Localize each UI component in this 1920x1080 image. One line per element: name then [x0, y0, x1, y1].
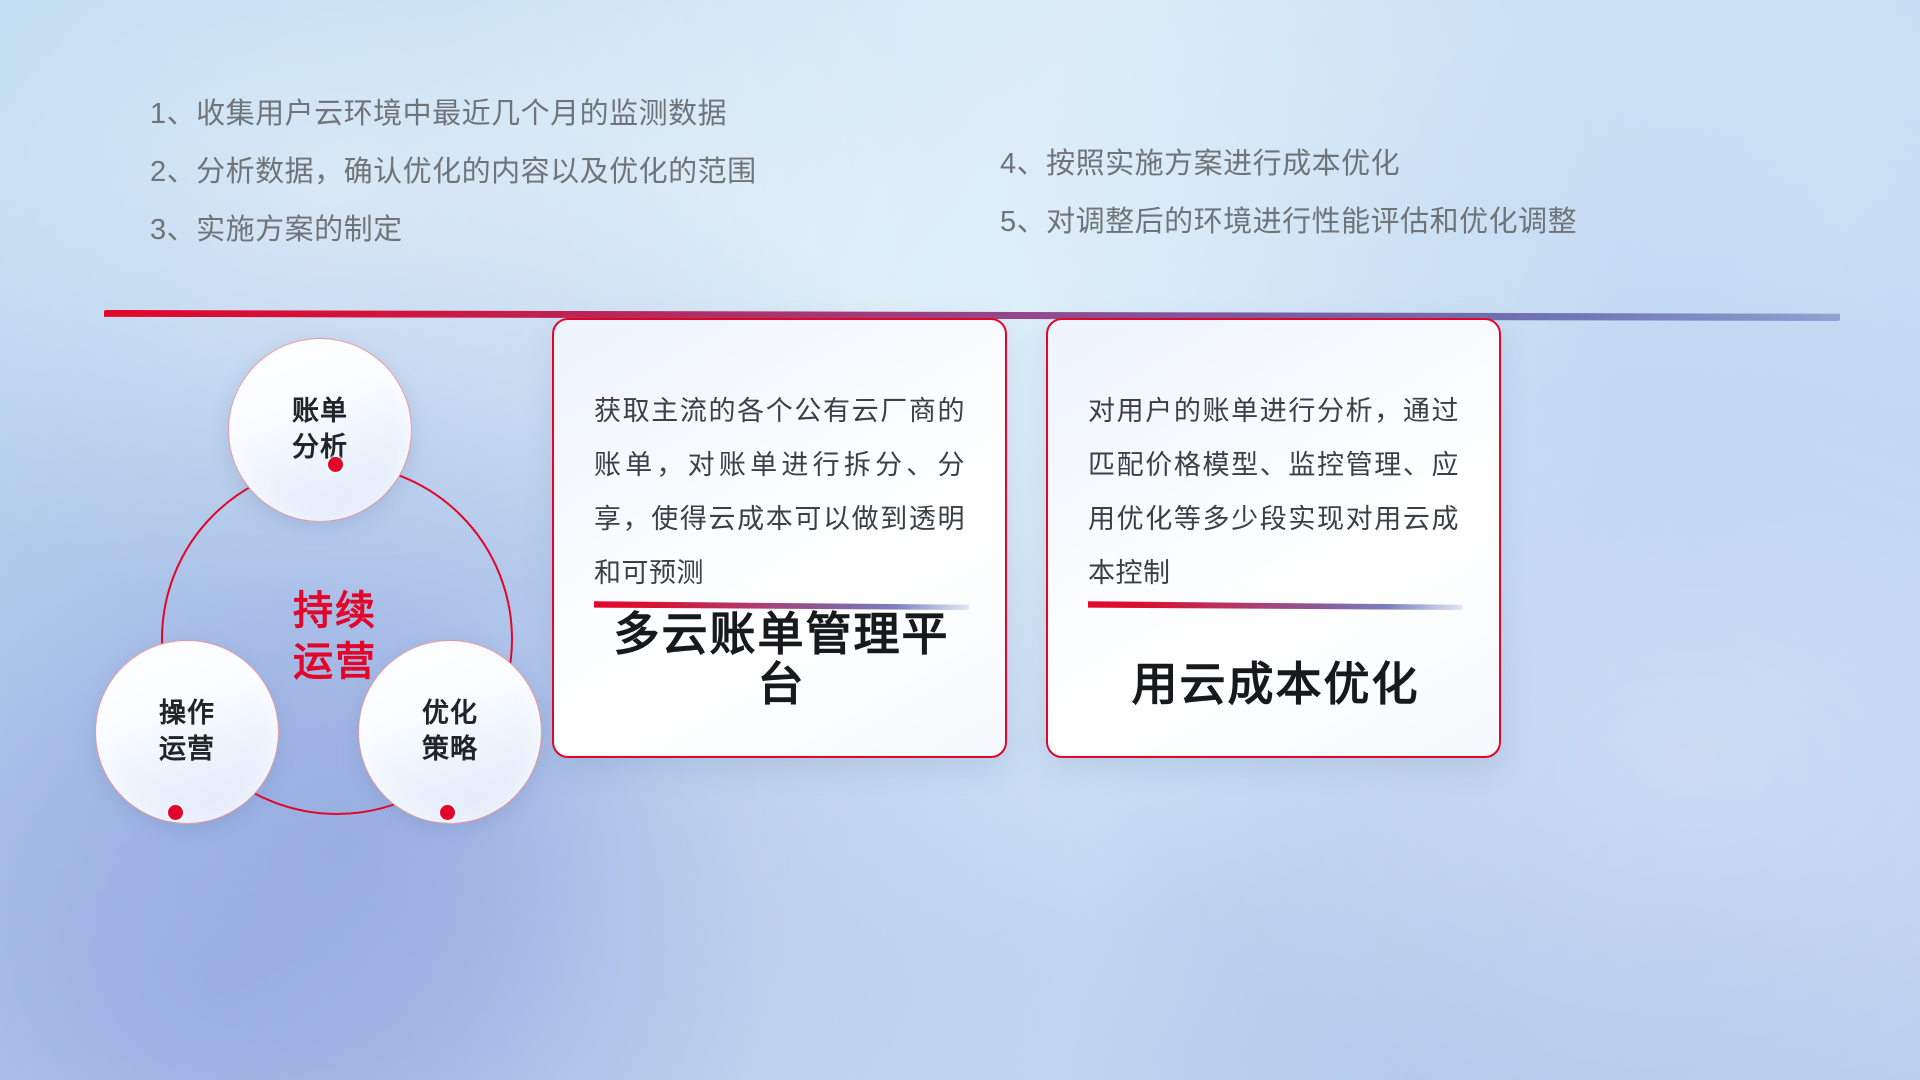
diagram-node-optimization-strategy-line1: 优化 [422, 698, 478, 728]
diagram-node-operations-line2: 运营 [159, 734, 215, 764]
steps-right-column: 4、按照实施方案进行成本优化 5、对调整后的环境进行性能评估和优化调整 [1000, 150, 1577, 237]
diagram-node-operations[interactable]: 操作 运营 [95, 640, 279, 824]
feature-card-multicloud-billing[interactable]: 获取主流的各个公有云厂商的账单，对账单进行拆分、分享，使得云成本可以做到透明和可… [552, 318, 1007, 758]
feature-card-cost-optimization[interactable]: 对用户的账单进行分析，通过匹配价格模型、监控管理、应用优化等多少段实现对用云成本… [1046, 318, 1501, 758]
steps-left-column: 1、收集用户云环境中最近几个月的监测数据 2、分析数据，确认优化的内容以及优化的… [150, 100, 757, 245]
step-item-1: 1、收集用户云环境中最近几个月的监测数据 [150, 100, 757, 129]
diagram-node-operations-line1: 操作 [159, 698, 215, 728]
feature-cards: 获取主流的各个公有云厂商的账单，对账单进行拆分、分享，使得云成本可以做到透明和可… [552, 318, 1862, 758]
feature-card-multicloud-billing-title: 多云账单管理平台 [594, 609, 969, 710]
step-item-4: 4、按照实施方案进行成本优化 [1000, 150, 1577, 179]
feature-card-multicloud-billing-body: 获取主流的各个公有云厂商的账单，对账单进行拆分、分享，使得云成本可以做到透明和可… [594, 384, 965, 600]
diagram-node-bill-analysis-line1: 账单 [292, 396, 348, 426]
diagram-node-bill-analysis[interactable]: 账单 分析 [228, 338, 412, 522]
diagram-connector-dot-top [328, 457, 343, 472]
feature-card-cost-optimization-body: 对用户的账单进行分析，通过匹配价格模型、监控管理、应用优化等多少段实现对用云成本… [1088, 384, 1459, 600]
feature-card-cost-optimization-rule [1088, 600, 1463, 610]
feature-card-cost-optimization-title: 用云成本优化 [1088, 659, 1463, 710]
steps-section: 1、收集用户云环境中最近几个月的监测数据 2、分析数据，确认优化的内容以及优化的… [0, 0, 1920, 300]
step-item-2: 2、分析数据，确认优化的内容以及优化的范围 [150, 158, 757, 187]
diagram-connector-dot-bottom-left [168, 805, 183, 820]
continuous-operation-diagram: 持续 运营 账单 分析 操作 运营 优化 策略 [100, 350, 570, 950]
step-item-3: 3、实施方案的制定 [150, 216, 757, 245]
step-item-5: 5、对调整后的环境进行性能评估和优化调整 [1000, 208, 1577, 237]
diagram-connector-dot-bottom-right [440, 805, 455, 820]
diagram-node-optimization-strategy[interactable]: 优化 策略 [358, 640, 542, 824]
diagram-node-optimization-strategy-line2: 策略 [422, 734, 478, 764]
